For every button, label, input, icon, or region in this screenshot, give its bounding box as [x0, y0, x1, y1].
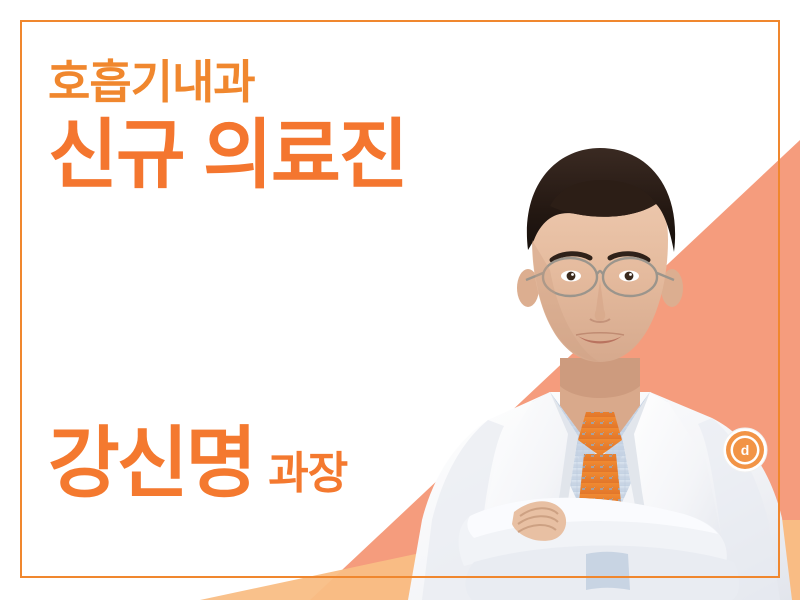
shirt-cuff	[586, 552, 630, 590]
doctor-role: 과장	[268, 452, 347, 502]
svg-text:d: d	[741, 442, 750, 458]
doctor-photo: d	[400, 120, 800, 600]
department-label: 호흡기내과	[48, 58, 407, 106]
hospital-badge-emblem: d	[723, 428, 767, 472]
doctor-name: 강신명	[48, 424, 254, 502]
poster-title: 신규 의료진	[48, 114, 407, 198]
poster-canvas: d 호흡기내과 신규 의료진 강신명 과장	[0, 0, 800, 600]
headline-block: 호흡기내과 신규 의료진	[48, 58, 407, 198]
doctor-portrait-illustration: d	[400, 120, 800, 600]
doctor-name-block: 강신명 과장	[48, 424, 347, 502]
